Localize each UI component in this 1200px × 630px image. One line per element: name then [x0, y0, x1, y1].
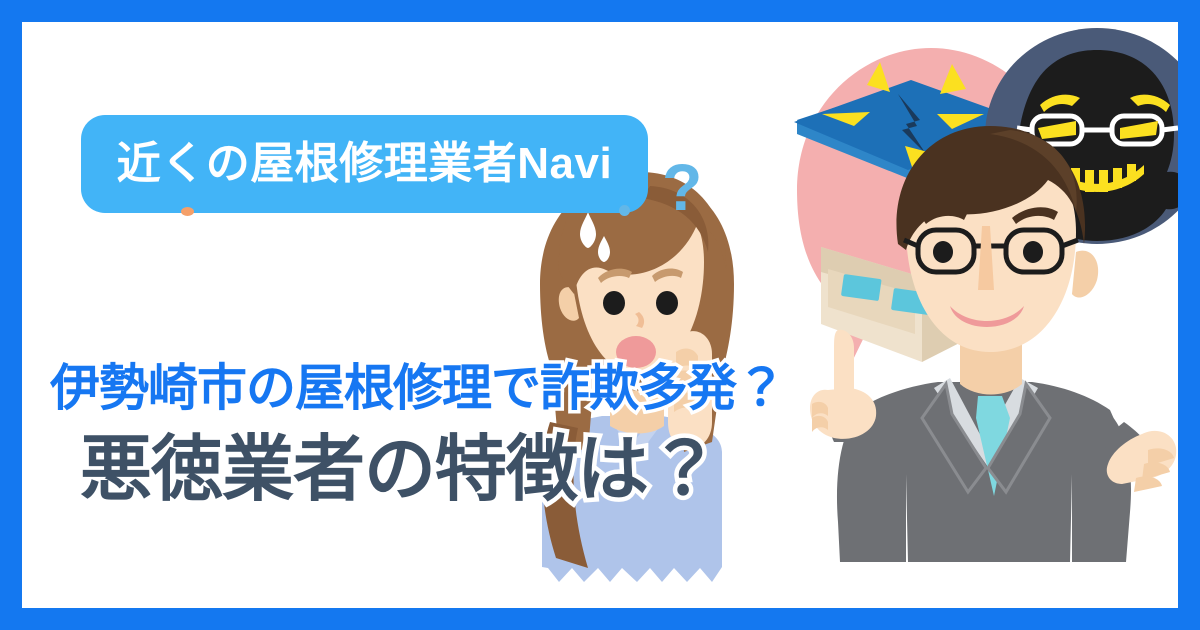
- question-mark-icon: ?: [662, 154, 702, 220]
- damaged-house-speech-bubble: [794, 48, 1065, 370]
- headline-block: 伊勢崎市の屋根修理で詐欺多発？ 悪徳業者の特徴は？: [22, 362, 842, 508]
- banner-frame: 近くの屋根修理業者Navi ? 伊勢崎市の屋根修理で詐欺多発？ 悪徳業者の特徴は…: [0, 0, 1200, 630]
- house-icon: [794, 62, 1028, 362]
- headline-line-2: 悪徳業者の特徴は？: [22, 433, 842, 509]
- site-name-badge-label: 近くの屋根修理業者Navi: [117, 142, 612, 186]
- illustration-layer: [22, 22, 1178, 608]
- villain-thought-bubble: [985, 28, 1178, 271]
- banner-canvas: 近くの屋根修理業者Navi ? 伊勢崎市の屋根修理で詐欺多発？ 悪徳業者の特徴は…: [22, 22, 1178, 608]
- site-name-badge[interactable]: 近くの屋根修理業者Navi: [81, 115, 648, 213]
- badge-accent-dot: [181, 207, 194, 216]
- question-mark-dot-icon: [619, 205, 630, 216]
- villain-face-icon: [1017, 50, 1178, 241]
- businessman-pointing: [810, 126, 1176, 562]
- headline-line-1: 伊勢崎市の屋根修理で詐欺多発？: [22, 362, 842, 415]
